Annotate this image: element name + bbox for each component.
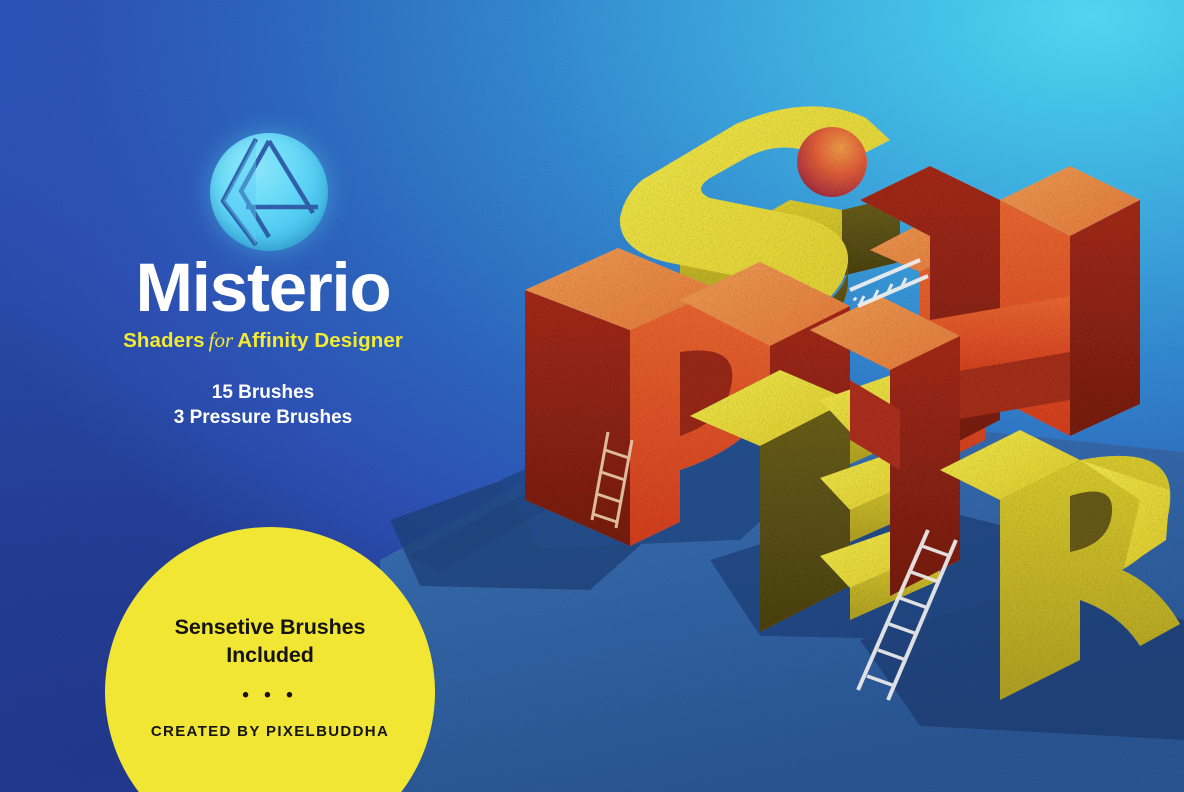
- badge-title-line-2: Included: [105, 641, 435, 669]
- brush-count-line-1: 15 Brushes: [118, 380, 408, 405]
- subtitle-part-2: Affinity Designer: [237, 329, 403, 352]
- badge-title-line-1: Sensetive Brushes: [105, 613, 435, 641]
- brush-counts: 15 Brushes 3 Pressure Brushes: [118, 380, 408, 431]
- brush-count-line-2: 3 Pressure Brushes: [118, 405, 408, 430]
- affinity-designer-logo-icon: [210, 133, 328, 251]
- badge-dots-separator: • • •: [105, 686, 435, 705]
- sensitive-brushes-badge: Sensetive Brushes Included • • • CREATED…: [105, 527, 435, 792]
- orange-sphere: [797, 127, 867, 197]
- subtitle-part-1: Shaders: [123, 329, 205, 352]
- isometric-lettering-artwork: [380, 0, 1184, 792]
- left-info-column: Misterio ShadersforAffinity Designer 15 …: [0, 0, 470, 792]
- page-title: Misterio: [118, 253, 408, 322]
- badge-title: Sensetive Brushes Included: [105, 613, 435, 670]
- poster-canvas: Misterio ShadersforAffinity Designer 15 …: [0, 0, 1184, 792]
- brand-subtitle: ShadersforAffinity Designer: [118, 328, 408, 353]
- subtitle-script-for: for: [205, 328, 238, 352]
- badge-credit: CREATED BY PIXELBUDDHA: [105, 723, 435, 740]
- logo-mark: [210, 133, 328, 251]
- badge-content: Sensetive Brushes Included • • • CREATED…: [105, 613, 435, 740]
